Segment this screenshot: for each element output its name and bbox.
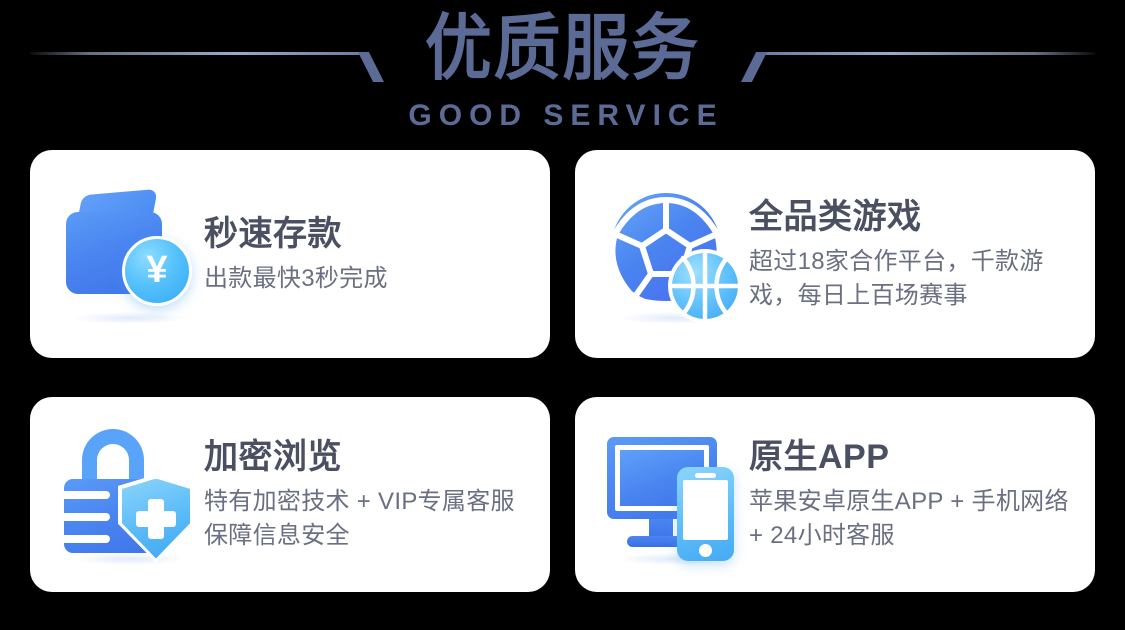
page-title: 优质服务	[39, 6, 1085, 92]
yen-symbol: ¥	[125, 239, 189, 303]
feature-card-encryption[interactable]: 加密浏览 特有加密技术 + VIP专属客服保障信息安全	[30, 397, 550, 592]
monitor-stand-icon	[649, 519, 673, 538]
banner-header: 优质服务 GOOD SERVICE	[0, 0, 1125, 146]
feature-card-text: 秒速存款 出款最快3秒完成	[198, 213, 550, 296]
phone-home-button-icon	[699, 544, 712, 557]
lock-slot-icon	[64, 491, 110, 499]
phone-screen-icon	[683, 480, 728, 540]
basketball-icon	[668, 249, 742, 323]
page-subtitle: GOOD SERVICE	[0, 99, 1125, 133]
feature-card-title: 全品类游戏	[749, 196, 1079, 238]
monitor-phone-icon	[605, 425, 743, 565]
feature-card-desc: 超过18家合作平台，千款游戏，每日上百场赛事	[749, 245, 1079, 313]
cross-icon	[136, 511, 176, 527]
lock-slot-icon	[64, 513, 110, 521]
good-service-banner: 优质服务 GOOD SERVICE ¥ 秒速存款 出款最快3秒完成	[0, 0, 1125, 630]
feature-card-desc: 特有加密技术 + VIP专属客服保障信息安全	[204, 485, 534, 553]
icon-shadow	[74, 553, 184, 565]
feature-card-title: 秒速存款	[204, 213, 534, 255]
feature-card-title: 加密浏览	[204, 436, 534, 478]
feature-card-desc: 出款最快3秒完成	[204, 262, 534, 296]
feature-card-title: 原生APP	[749, 436, 1079, 478]
feature-card-desc: 苹果安卓原生APP + 手机网络 + 24小时客服	[749, 485, 1079, 553]
feature-card-grid: ¥ 秒速存款 出款最快3秒完成	[30, 150, 1095, 592]
yen-coin-icon: ¥	[122, 236, 192, 306]
phone-speaker-icon	[695, 473, 716, 478]
icon-shadow	[74, 312, 184, 324]
soccer-basketball-icon	[605, 184, 743, 324]
lock-shield-icon	[60, 425, 198, 565]
feature-card-text: 全品类游戏 超过18家合作平台，千款游戏，每日上百场赛事	[743, 196, 1095, 313]
wallet-coin-icon: ¥	[60, 184, 198, 324]
feature-card-games[interactable]: 全品类游戏 超过18家合作平台，千款游戏，每日上百场赛事	[575, 150, 1095, 358]
ball-group-icon	[605, 186, 743, 324]
feature-card-deposit[interactable]: ¥ 秒速存款 出款最快3秒完成	[30, 150, 550, 358]
feature-card-text: 加密浏览 特有加密技术 + VIP专属客服保障信息安全	[198, 436, 550, 553]
lock-slot-icon	[64, 535, 110, 543]
feature-card-text: 原生APP 苹果安卓原生APP + 手机网络 + 24小时客服	[743, 436, 1095, 553]
feature-card-native-app[interactable]: 原生APP 苹果安卓原生APP + 手机网络 + 24小时客服	[575, 397, 1095, 592]
